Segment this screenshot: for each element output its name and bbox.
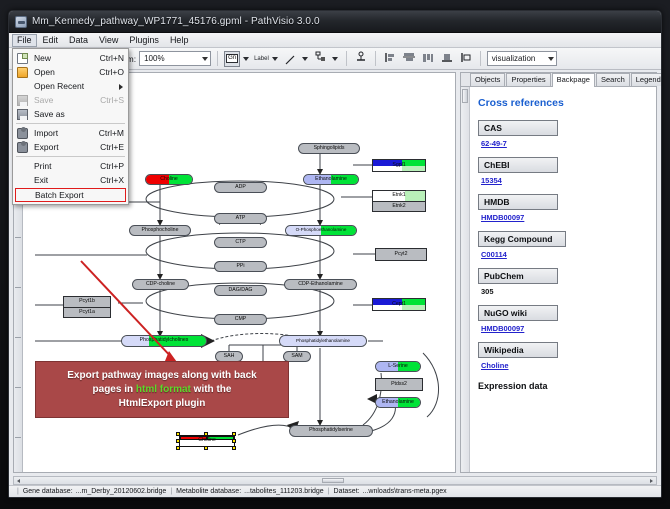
xref-value-pubchem: 305 bbox=[478, 287, 648, 305]
backpage-content: Cross references CAS 62-49-7 ChEBI 15354… bbox=[470, 87, 656, 472]
annotation-text: Export pathway images along with back pa… bbox=[67, 369, 257, 411]
xref-value-kegg: C00114 bbox=[478, 250, 648, 268]
status-gene-database-label: Gene database: bbox=[23, 488, 73, 495]
status-metabolite-database-value: ...tabolites_111203.bridge bbox=[244, 488, 324, 495]
menu-item-exit-label: Exit bbox=[34, 175, 48, 185]
tab-properties[interactable]: Properties bbox=[506, 73, 550, 86]
zoom-value: 100% bbox=[144, 54, 164, 63]
menu-item-print[interactable]: Print Ctrl+P bbox=[13, 159, 128, 173]
menu-item-open-shortcut: Ctrl+O bbox=[99, 67, 124, 77]
tab-objects[interactable]: Objects bbox=[470, 73, 505, 86]
annotation-line-2a: pages in bbox=[93, 384, 136, 395]
status-divider-2: | bbox=[328, 488, 330, 495]
menu-item-save-label: Save bbox=[34, 95, 53, 105]
label-tool-button[interactable]: Label bbox=[254, 56, 269, 62]
line-dropdown-icon[interactable] bbox=[302, 57, 308, 61]
export-icon bbox=[17, 142, 28, 153]
datanode-tool-button[interactable]: Gn bbox=[224, 51, 240, 67]
expression-data-title: Expression data bbox=[478, 381, 648, 391]
side-panel: Objects Properties Backpage Search Legen… bbox=[460, 72, 657, 473]
status-divider-0: | bbox=[17, 488, 19, 495]
toolbar-divider-4 bbox=[480, 51, 481, 66]
annotation-highlight: html format bbox=[136, 384, 191, 395]
menu-file[interactable]: File bbox=[12, 34, 37, 47]
align-center-button[interactable] bbox=[401, 51, 417, 67]
shape-icon bbox=[315, 50, 327, 68]
xref-value-nugo: HMDB00097 bbox=[478, 324, 648, 342]
align-middle-icon bbox=[422, 50, 434, 68]
hscroll-thumb[interactable] bbox=[322, 478, 344, 483]
align-right-icon bbox=[460, 50, 472, 68]
menu-item-import-label: Import bbox=[34, 128, 58, 138]
menu-item-exit[interactable]: Exit Ctrl+X bbox=[13, 173, 128, 187]
anchor-tool-button[interactable] bbox=[353, 51, 369, 67]
menu-edit[interactable]: Edit bbox=[38, 34, 64, 47]
gene-glyph-icon: Gn bbox=[226, 54, 238, 63]
side-panel-scrollbar[interactable] bbox=[461, 87, 470, 472]
xref-header-hmdb: HMDB bbox=[478, 194, 558, 210]
menu-item-export-label: Export bbox=[34, 142, 59, 152]
file-menu-dropdown: New Ctrl+N Open Ctrl+O Open Recent Save … bbox=[12, 48, 129, 205]
menubar: File Edit Data View Plugins Help bbox=[9, 33, 661, 48]
align-left-icon bbox=[384, 50, 396, 68]
xref-link-nugo[interactable]: HMDB00097 bbox=[481, 324, 524, 333]
toolbar-divider-2 bbox=[346, 51, 347, 66]
xref-header-chebi: ChEBI bbox=[478, 157, 558, 173]
xref-value-hmdb: HMDB00097 bbox=[478, 213, 648, 231]
side-panel-scroll: Cross references CAS 62-49-7 ChEBI 15354… bbox=[461, 87, 656, 472]
screen-root: Mm_Kennedy_pathway_WP1771_45176.gpml - P… bbox=[0, 0, 670, 509]
save-disk-icon bbox=[17, 95, 28, 106]
xref-link-wikipedia[interactable]: Choline bbox=[481, 361, 509, 370]
align-left-button[interactable] bbox=[382, 51, 398, 67]
annotation-line-2b: with the bbox=[191, 384, 232, 395]
visualization-value: visualization bbox=[492, 54, 536, 63]
menu-view[interactable]: View bbox=[94, 34, 123, 47]
menu-item-import[interactable]: Import Ctrl+M bbox=[13, 126, 128, 140]
menu-item-save-as[interactable]: Save as bbox=[13, 107, 128, 121]
line-icon bbox=[285, 53, 296, 64]
xref-header-kegg: Kegg Compound bbox=[478, 231, 566, 247]
menu-item-open[interactable]: Open Ctrl+O bbox=[13, 65, 128, 79]
cross-references-title: Cross references bbox=[478, 97, 648, 109]
submenu-arrow-icon bbox=[119, 84, 123, 90]
align-center-icon bbox=[403, 50, 415, 68]
zoom-combobox[interactable]: 100% bbox=[139, 51, 211, 66]
menu-item-new-label: New bbox=[34, 53, 51, 63]
window-title: Mm_Kennedy_pathway_WP1771_45176.gpml - P… bbox=[32, 16, 320, 27]
align-bottom-button[interactable] bbox=[439, 51, 455, 67]
menu-item-export-shortcut: Ctrl+E bbox=[100, 142, 124, 152]
scrollbar-thumb[interactable] bbox=[462, 89, 468, 103]
align-bottom-icon bbox=[441, 50, 453, 68]
shape-dropdown-icon[interactable] bbox=[332, 57, 338, 61]
menu-item-new-shortcut: Ctrl+N bbox=[100, 53, 124, 63]
annotation-callout: Export pathway images along with back pa… bbox=[35, 361, 289, 418]
side-panel-tabstrip: Objects Properties Backpage Search Legen… bbox=[461, 73, 656, 87]
xref-value-cas: 62-49-7 bbox=[478, 139, 648, 157]
status-dataset-value: ...wnloads\trans-meta.pgex bbox=[363, 488, 447, 495]
menu-item-import-shortcut: Ctrl+M bbox=[99, 128, 124, 138]
pathvisio-window: Mm_Kennedy_pathway_WP1771_45176.gpml - P… bbox=[8, 10, 662, 498]
horizontal-scrollbar[interactable] bbox=[13, 476, 657, 485]
xref-header-nugo: NuGO wiki bbox=[478, 305, 558, 321]
status-divider-1: | bbox=[170, 488, 172, 495]
new-document-icon bbox=[17, 53, 28, 64]
open-folder-icon bbox=[17, 67, 28, 78]
window-titlebar[interactable]: Mm_Kennedy_pathway_WP1771_45176.gpml - P… bbox=[9, 11, 661, 33]
xref-header-cas: CAS bbox=[478, 120, 558, 136]
xref-value-chebi: 15354 bbox=[478, 176, 648, 194]
menu-help[interactable]: Help bbox=[165, 34, 194, 47]
align-middle-button[interactable] bbox=[420, 51, 436, 67]
align-right-button[interactable] bbox=[458, 51, 474, 67]
xref-link-hmdb[interactable]: HMDB00097 bbox=[481, 213, 524, 222]
tab-backpage[interactable]: Backpage bbox=[552, 73, 595, 87]
xref-link-cas[interactable]: 62-49-7 bbox=[481, 139, 507, 148]
xref-header-wikipedia: Wikipedia bbox=[478, 342, 558, 358]
menu-item-export[interactable]: Export Ctrl+E bbox=[13, 140, 128, 154]
menu-separator-2 bbox=[16, 156, 125, 157]
chevron-down-icon-2 bbox=[548, 57, 554, 61]
shape-tool-button[interactable] bbox=[313, 51, 329, 67]
chevron-down-icon bbox=[202, 57, 208, 61]
anchor-icon bbox=[355, 50, 367, 68]
pathvisio-app-icon bbox=[15, 16, 27, 28]
status-metabolite-database-label: Metabolite database: bbox=[176, 488, 241, 495]
menu-item-exit-shortcut: Ctrl+X bbox=[100, 175, 124, 185]
label-dropdown-icon[interactable] bbox=[272, 57, 278, 61]
xref-header-pubchem: PubChem bbox=[478, 268, 558, 284]
menu-item-save: Save Ctrl+S bbox=[13, 93, 128, 107]
visualization-combobox[interactable]: visualization bbox=[487, 51, 557, 66]
menu-separator-1 bbox=[16, 123, 125, 124]
scroll-left-arrow-icon[interactable] bbox=[14, 477, 23, 484]
tab-legend[interactable]: Legend bbox=[631, 73, 662, 86]
line-tool-button[interactable] bbox=[283, 51, 299, 67]
toolbar-divider bbox=[217, 51, 218, 66]
menu-item-save-shortcut: Ctrl+S bbox=[100, 95, 124, 105]
menu-item-new[interactable]: New Ctrl+N bbox=[13, 51, 128, 65]
import-icon bbox=[17, 128, 28, 139]
toolbar-divider-3 bbox=[375, 51, 376, 66]
status-dataset-label: Dataset: bbox=[334, 488, 360, 495]
menu-item-batch-export-label: Batch Export bbox=[35, 190, 84, 200]
menu-item-save-as-label: Save as bbox=[34, 109, 65, 119]
menu-plugins[interactable]: Plugins bbox=[124, 34, 164, 47]
xref-value-wikipedia: Choline bbox=[478, 361, 648, 379]
xref-link-kegg[interactable]: C00114 bbox=[481, 250, 507, 259]
menu-item-open-recent[interactable]: Open Recent bbox=[13, 79, 128, 93]
status-gene-database-value: ...m_Derby_20120602.bridge bbox=[76, 488, 167, 495]
statusbar: | Gene database: ...m_Derby_20120602.bri… bbox=[9, 485, 661, 497]
save-as-disk-icon bbox=[17, 109, 28, 120]
menu-item-print-shortcut: Ctrl+P bbox=[100, 161, 124, 171]
tab-search[interactable]: Search bbox=[596, 73, 630, 86]
scroll-right-arrow-icon[interactable] bbox=[647, 477, 656, 484]
annotation-line-1: Export pathway images along with back bbox=[67, 370, 257, 381]
xref-link-chebi[interactable]: 15354 bbox=[481, 176, 502, 185]
menu-item-print-label: Print bbox=[34, 161, 51, 171]
datanode-dropdown-icon[interactable] bbox=[243, 57, 249, 61]
menu-item-batch-export[interactable]: Batch Export bbox=[15, 188, 126, 202]
menu-item-open-label: Open bbox=[34, 67, 55, 77]
menu-item-open-recent-label: Open Recent bbox=[34, 81, 84, 91]
menu-data[interactable]: Data bbox=[64, 34, 93, 47]
annotation-line-3: HtmlExport plugin bbox=[119, 398, 206, 409]
